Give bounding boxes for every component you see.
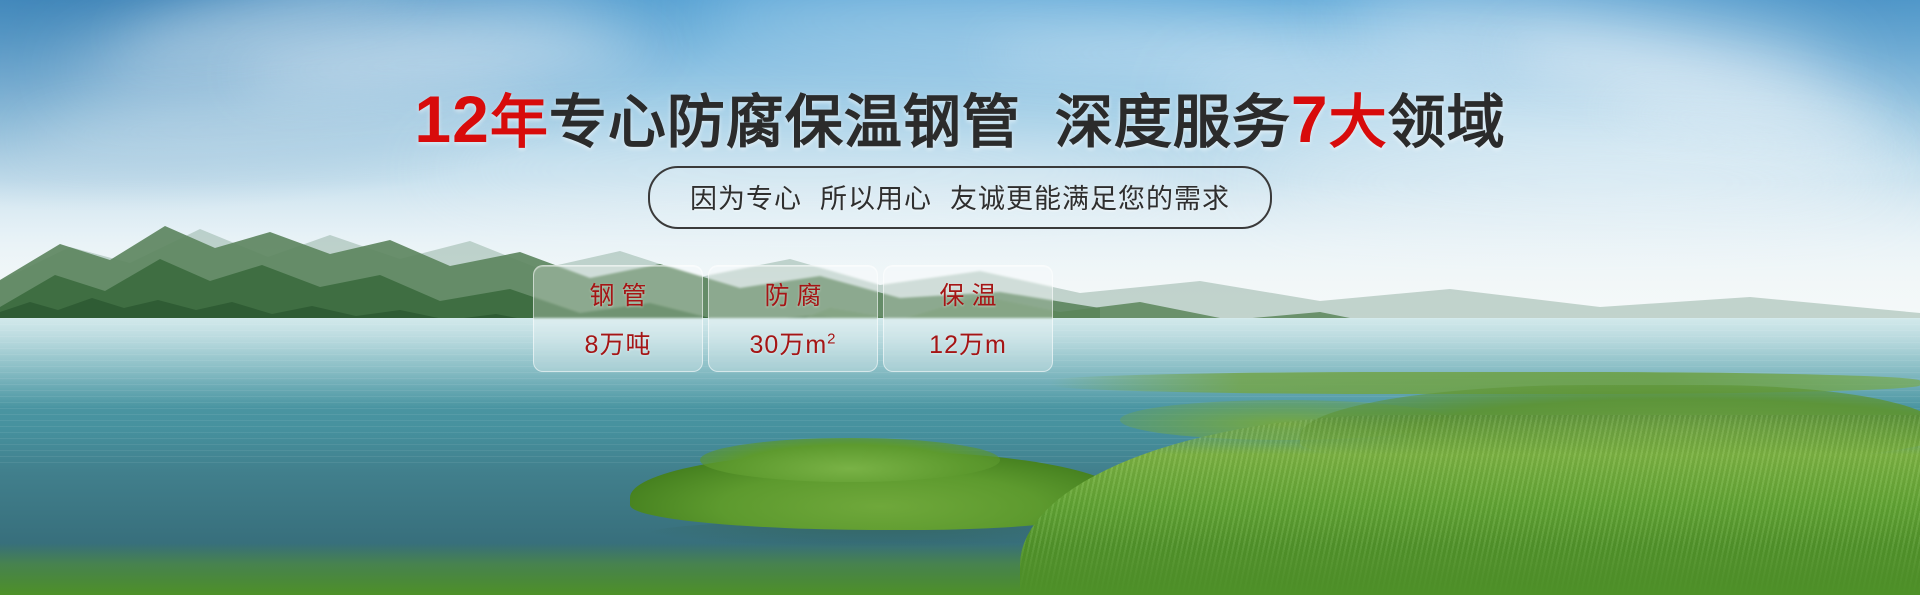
banner-content: 12年专心防腐保温钢管深度服务7大领域 因为专心所以用心友诚更能满足您的需求 钢… [0,0,1920,595]
stat-card: 防腐 30万m2 [708,265,878,372]
headline-highlight-number: 7 [1291,82,1329,156]
stat-card-label: 防腐 [757,276,828,312]
subtitle-pill: 因为专心所以用心友诚更能满足您的需求 [648,166,1272,229]
subtitle-container: 因为专心所以用心友诚更能满足您的需求 [0,166,1920,229]
stat-card: 保温 12万m [883,265,1053,372]
subtitle-part-1: 因为专心 [690,184,802,214]
headline-main-text-3: 领域 [1388,90,1506,155]
stat-value-number: 12 [929,331,959,359]
headline: 12年专心防腐保温钢管深度服务7大领域 [0,86,1920,152]
subtitle-part-2: 所以用心 [820,184,932,214]
stat-value-number: 30 [750,331,780,359]
stat-value-unit: 万m [959,331,1007,359]
headline-years-number: 12 [414,82,489,156]
headline-main-text-1: 专心防腐保温钢管 [549,90,1021,155]
stat-card-label: 保温 [932,276,1003,312]
headline-main-text-2: 深度服务 [1055,90,1291,155]
stat-card-group: 钢管 8万吨 防腐 30万m2 保温 12万m [533,265,1053,372]
stat-value-unit: 万m [779,331,827,359]
stat-value-unit: 万吨 [599,331,651,359]
headline-years-unit: 年 [490,90,549,155]
stat-value-superscript: 2 [827,331,836,348]
subtitle-part-3: 友诚更能满足您的需求 [950,184,1230,214]
stat-card-label: 钢管 [582,276,653,312]
stat-card-value: 30万m2 [750,325,837,361]
stat-value-number: 8 [585,331,600,359]
stat-card-value: 12万m [929,325,1007,361]
promo-banner: 12年专心防腐保温钢管深度服务7大领域 因为专心所以用心友诚更能满足您的需求 钢… [0,0,1920,595]
headline-highlight-unit: 大 [1329,90,1388,155]
stat-card-value: 8万吨 [585,325,652,361]
stat-card: 钢管 8万吨 [533,265,703,372]
